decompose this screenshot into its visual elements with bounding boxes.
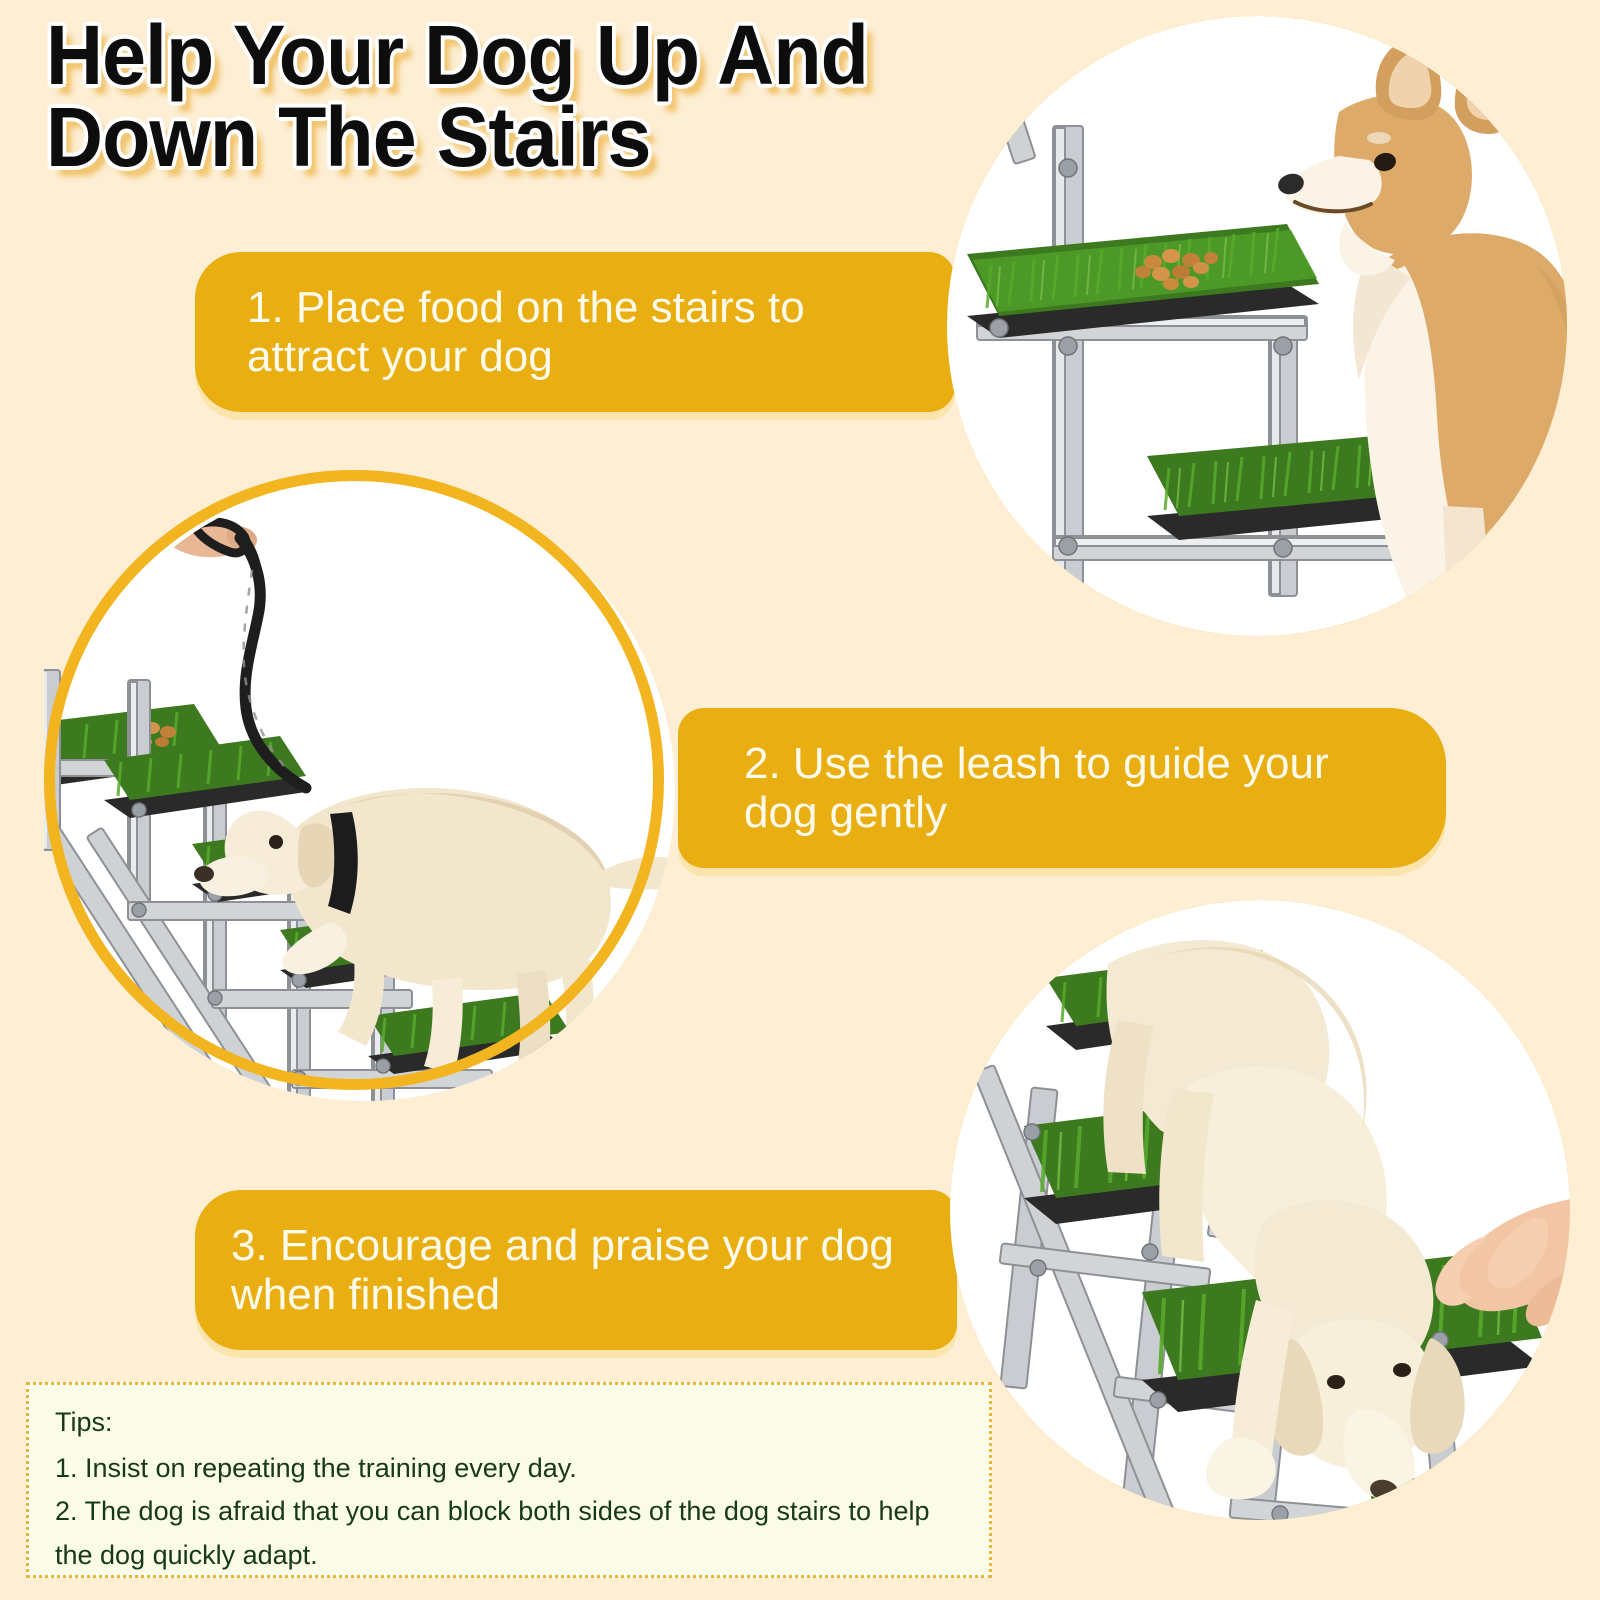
photo-step-1-circle — [947, 16, 1567, 636]
photo-step-3-clip — [950, 900, 1570, 1520]
labrador-descending-to-hand-illustration — [950, 900, 1570, 1520]
step-2-label: 2. Use the leash to guide your dog gentl… — [744, 739, 1406, 838]
tips-box: Tips: 1. Insist on repeating the trainin… — [26, 1382, 992, 1578]
step-1-banner: 1. Place food on the stairs to attract y… — [195, 252, 955, 412]
photo-step-2-clip — [44, 470, 664, 1090]
step-3-label: 3. Encourage and praise your dog when fi… — [231, 1221, 917, 1320]
photo-step-3-circle — [950, 900, 1570, 1520]
leash-guiding-labrador-illustration — [44, 470, 686, 1112]
shiba-and-stairs-illustration — [947, 16, 1567, 636]
photo-step-2-circle — [44, 470, 664, 1090]
step-1-label: 1. Place food on the stairs to attract y… — [247, 283, 915, 382]
step-3-banner: 3. Encourage and praise your dog when fi… — [195, 1190, 957, 1350]
infographic-page: Help Your Dog Up And Down The Stairs 1. … — [0, 0, 1600, 1600]
tips-item-1: 1. Insist on repeating the training ever… — [55, 1447, 967, 1491]
step-2-banner: 2. Use the leash to guide your dog gentl… — [678, 708, 1446, 868]
photo-step-1-clip — [947, 16, 1567, 636]
page-title: Help Your Dog Up And Down The Stairs — [46, 14, 977, 179]
tips-heading: Tips: — [55, 1401, 967, 1445]
tips-item-2: 2. The dog is afraid that you can block … — [55, 1490, 967, 1577]
